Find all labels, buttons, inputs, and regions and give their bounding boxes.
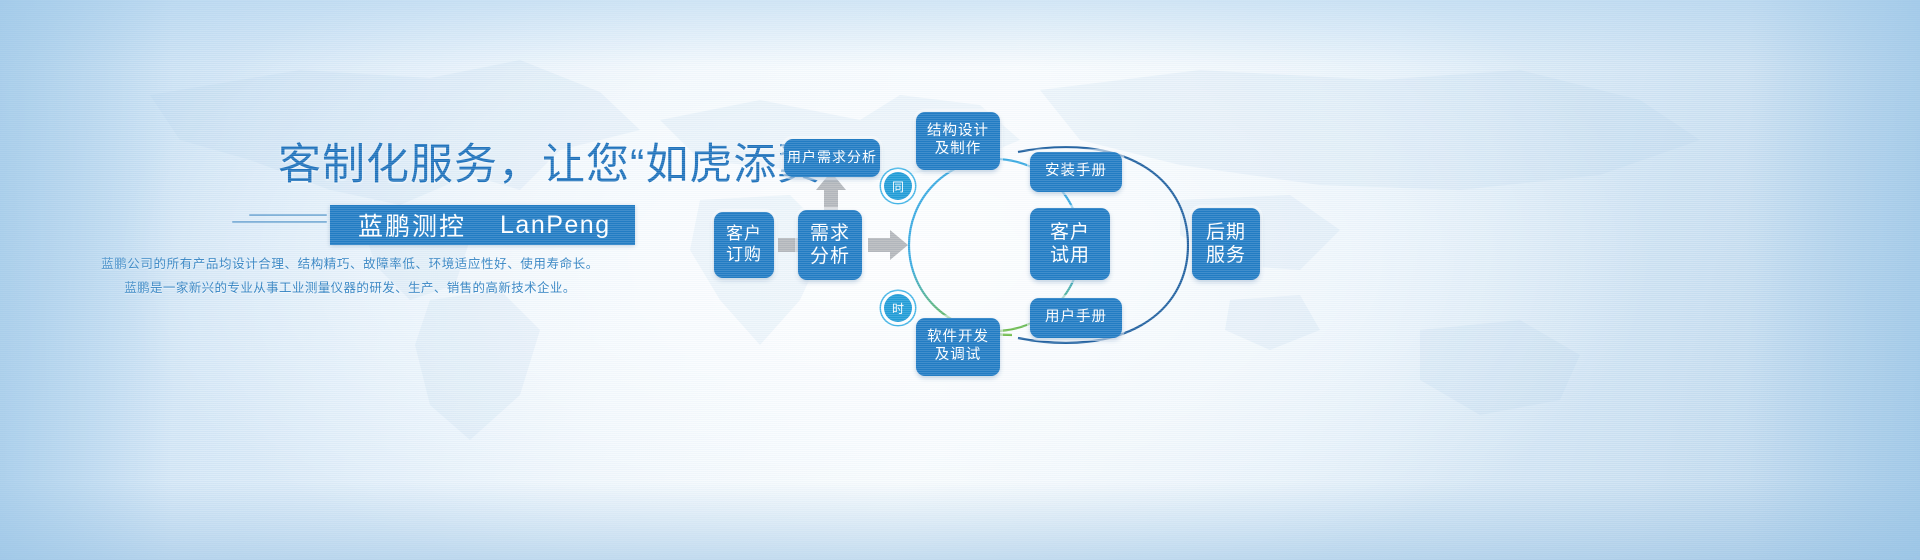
flow-node-software-dev[interactable]: 软件开发 及调试 — [916, 318, 1000, 376]
flow-connectors — [0, 0, 1920, 560]
flow-node-software-dev-label: 软件开发 及调试 — [927, 329, 989, 364]
flow-node-customer-order-label: 客户 订购 — [726, 224, 762, 265]
banner-stage: 客制化服务，让您“如虎添翼” 蓝鹏测控 LanPeng 蓝鹏公司的所有产品均设计… — [0, 0, 1920, 560]
flow-node-customer-trial[interactable]: 客户 试用 — [1030, 208, 1110, 280]
flow-node-customer-order[interactable]: 客户 订购 — [714, 212, 774, 278]
flow-node-structure-design[interactable]: 结构设计 及制作 — [916, 112, 1000, 170]
flow-node-requirement-analysis[interactable]: 需求 分析 — [798, 210, 862, 280]
flow-node-install-manual-label: 安装手册 — [1045, 163, 1107, 181]
flow-node-user-requirement[interactable]: 用户需求分析 — [784, 139, 880, 177]
flow-node-requirement-analysis-label: 需求 分析 — [810, 222, 850, 268]
flow-node-user-manual[interactable]: 用户手册 — [1030, 298, 1122, 338]
flow-node-customer-trial-label: 客户 试用 — [1050, 221, 1090, 267]
flow-badge-same-label: 同 — [892, 178, 904, 195]
flow-node-after-service-label: 后期 服务 — [1206, 221, 1246, 267]
flow-badge-time: 时 — [884, 294, 912, 322]
flow-node-user-requirement-label: 用户需求分析 — [787, 149, 877, 166]
process-flow-diagram: 客户 订购 需求 分析 用户需求分析 结构设计 及制作 软件开发 及调试 安装手… — [0, 0, 1920, 560]
flow-node-after-service[interactable]: 后期 服务 — [1192, 208, 1260, 280]
flow-badge-same: 同 — [884, 172, 912, 200]
flow-node-install-manual[interactable]: 安装手册 — [1030, 152, 1122, 192]
flow-node-structure-design-label: 结构设计 及制作 — [927, 123, 989, 158]
flow-badge-time-label: 时 — [892, 300, 904, 317]
flow-node-user-manual-label: 用户手册 — [1045, 309, 1107, 327]
